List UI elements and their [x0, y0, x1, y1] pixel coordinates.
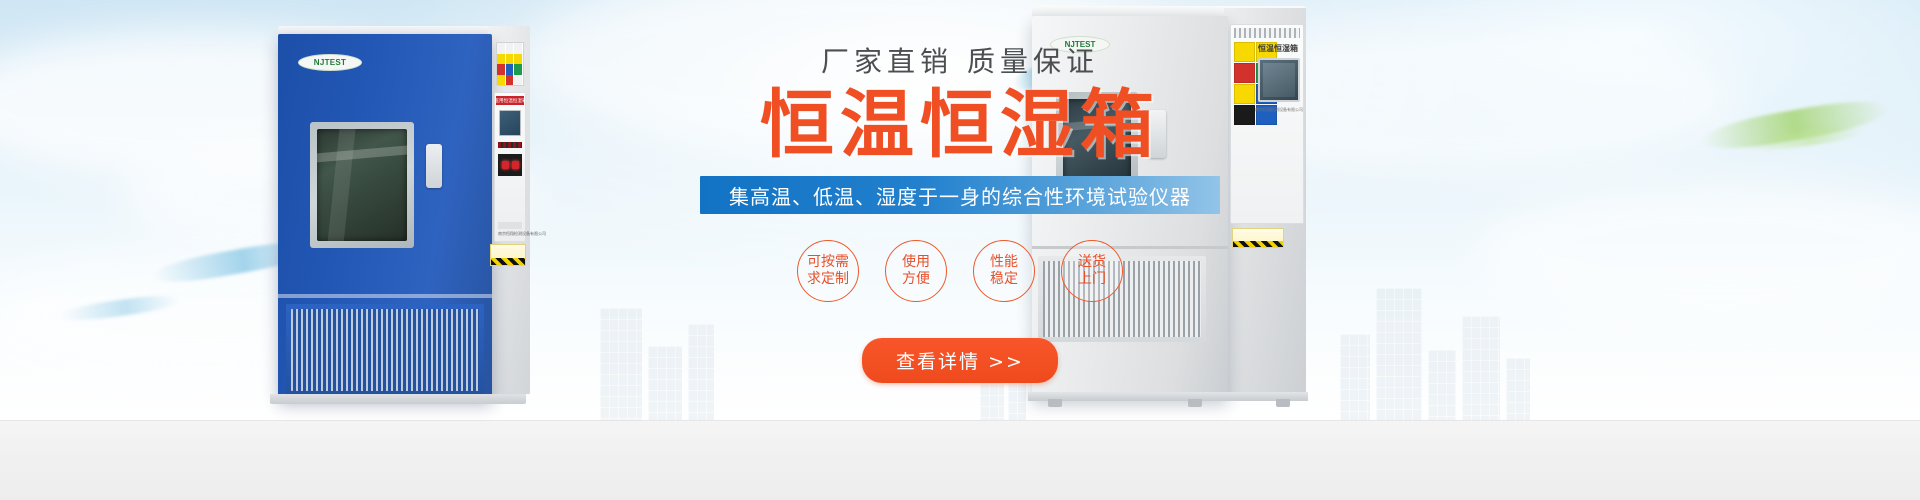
machine-left-panel-title-text: 医用恒温恒湿箱 [496, 97, 524, 103]
cta-container: 查看详情 >> [700, 338, 1220, 383]
badge-line-2: 方便 [902, 271, 930, 289]
badge-line-1: 使用 [902, 254, 930, 272]
subtitle-bar: 集高温、低温、湿度于一身的综合性环境试验仪器 [700, 176, 1220, 214]
feature-badge-custom[interactable]: 可按需 求定制 [797, 240, 859, 302]
machine-right-leg [1276, 399, 1290, 407]
view-details-button[interactable]: 查看详情 >> [862, 338, 1058, 383]
machine-left-caution-label [490, 244, 526, 266]
machine-right-panel-title-text: 恒温恒湿箱 [1258, 43, 1298, 54]
feature-badge-delivery[interactable]: 送货 上门 [1061, 240, 1123, 302]
machine-left-display-screen[interactable] [499, 110, 521, 136]
banner-copy: 厂家直销 质量保证 恒温恒湿箱 集高温、低温、湿度于一身的综合性环境试验仪器 可… [700, 48, 1220, 383]
machine-left-base [270, 394, 526, 404]
feature-badge-easy-use[interactable]: 使用 方便 [885, 240, 947, 302]
subtitle-text: 集高温、低温、湿度于一身的综合性环境试验仪器 [729, 181, 1191, 210]
machine-left-brand-logo: NJTEST [298, 54, 362, 71]
machine-left-digital-readout [498, 154, 522, 176]
feature-badge-stable[interactable]: 性能 稳定 [973, 240, 1035, 302]
promo-banner: NJTEST 医用恒温恒湿箱 南京恒翔检测设备有限公司 [0, 0, 1920, 500]
machine-right-leg [1048, 399, 1062, 407]
machine-left: NJTEST 医用恒温恒湿箱 南京恒翔检测设备有限公司 [262, 26, 530, 404]
badge-line-2: 上门 [1078, 271, 1106, 289]
machine-right-caution-label [1232, 228, 1284, 248]
machine-left-indicator-leds [498, 142, 522, 148]
machine-left-window-glass [317, 129, 407, 241]
badge-line-1: 可按需 [807, 254, 849, 272]
machine-left-warning-sticker [496, 42, 524, 86]
floor-strip [0, 420, 1920, 500]
machine-right-panel-footer: 南京恒翔检测设备有限公司 [1256, 106, 1302, 114]
page-title: 恒温恒湿箱 [700, 88, 1220, 162]
machine-right-touchscreen[interactable] [1258, 58, 1300, 102]
badge-line-1: 性能 [990, 254, 1018, 272]
eyebrow-text: 厂家直销 质量保证 [700, 48, 1220, 76]
badge-line-2: 求定制 [807, 271, 849, 289]
machine-left-door-handle[interactable] [426, 144, 442, 188]
machine-right-leg [1188, 399, 1202, 407]
machine-right-panel-footer-text: 南京恒翔检测设备有限公司 [1255, 107, 1303, 113]
badge-line-2: 稳定 [990, 271, 1018, 289]
machine-right-vent-slots [1234, 28, 1300, 38]
machine-right-panel-title-plate: 恒温恒湿箱 [1256, 42, 1300, 54]
machine-left-viewing-window [310, 122, 414, 248]
machine-right-base [1028, 392, 1308, 401]
machine-left-air-grille [286, 304, 484, 396]
machine-left-panel-footer: 南京恒翔检测设备有限公司 [498, 222, 522, 229]
machine-left-brand-text: NJTEST [314, 58, 346, 67]
machine-left-divider [278, 294, 492, 298]
machine-left-panel-footer-text: 南京恒翔检测设备有限公司 [498, 231, 546, 236]
feature-badges: 可按需 求定制 使用 方便 性能 稳定 送货 上门 [700, 240, 1220, 302]
machine-left-panel-title-plate: 医用恒温恒湿箱 [496, 96, 524, 105]
badge-line-1: 送货 [1078, 254, 1106, 272]
